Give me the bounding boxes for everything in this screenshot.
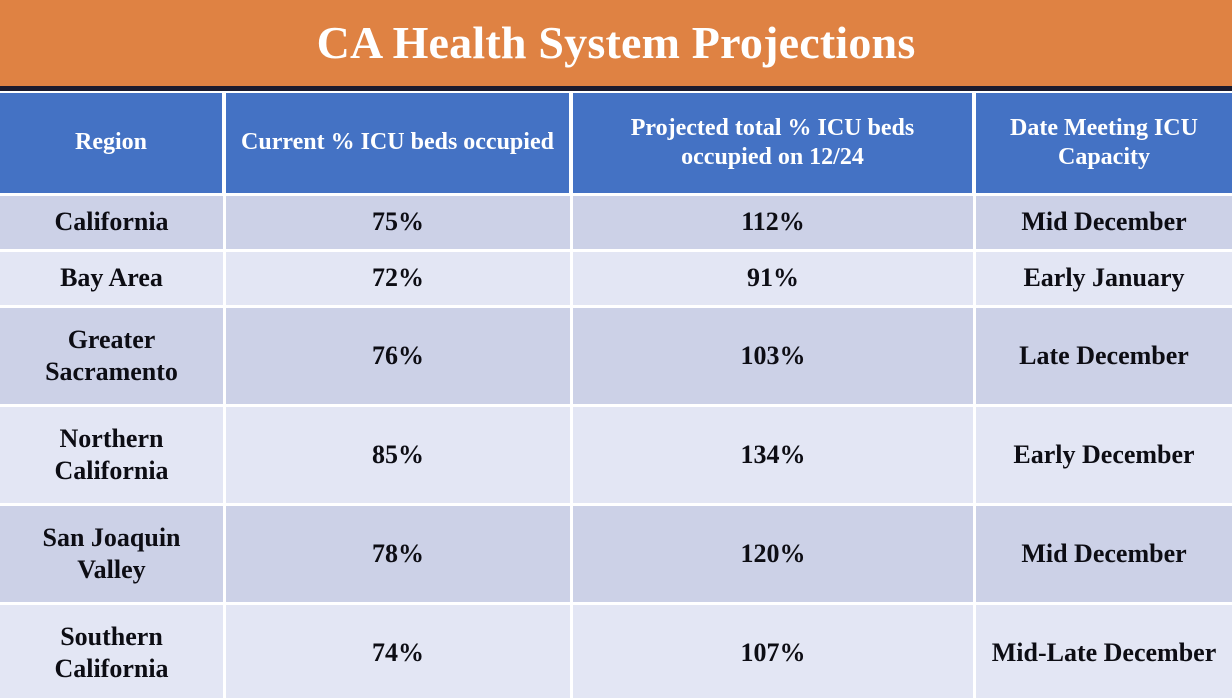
title-banner: CA Health System Projections [0,0,1232,86]
table-row: Bay Area 72% 91% Early January [0,252,1232,308]
table-row: Greater Sacramento 76% 103% Late Decembe… [0,308,1232,407]
cell-region: Greater Sacramento [0,308,226,407]
banner-divider [0,86,1232,91]
table-row: Northern California 85% 134% Early Decem… [0,407,1232,506]
cell-current-icu: 85% [226,407,573,506]
column-header-projected-icu: Projected total % ICU beds occupied on 1… [573,93,976,196]
table-body: California 75% 112% Mid December Bay Are… [0,196,1232,698]
table-header: Region Current % ICU beds occupied Proje… [0,93,1232,196]
cell-region: California [0,196,226,252]
cell-projected-icu: 107% [573,605,976,698]
cell-projected-icu: 91% [573,252,976,308]
cell-current-icu: 76% [226,308,573,407]
slide-root: CA Health System Projections Region Curr… [0,0,1232,698]
cell-projected-icu: 112% [573,196,976,252]
cell-date-capacity: Mid December [976,506,1232,605]
table-header-row: Region Current % ICU beds occupied Proje… [0,93,1232,196]
projections-table: Region Current % ICU beds occupied Proje… [0,93,1232,698]
cell-current-icu: 72% [226,252,573,308]
cell-date-capacity: Early January [976,252,1232,308]
column-header-current-icu: Current % ICU beds occupied [226,93,573,196]
projections-table-container: Region Current % ICU beds occupied Proje… [0,93,1232,698]
cell-region: Bay Area [0,252,226,308]
cell-date-capacity: Mid December [976,196,1232,252]
cell-current-icu: 78% [226,506,573,605]
cell-projected-icu: 103% [573,308,976,407]
cell-projected-icu: 134% [573,407,976,506]
table-row: San Joaquin Valley 78% 120% Mid December [0,506,1232,605]
cell-current-icu: 75% [226,196,573,252]
cell-region: San Joaquin Valley [0,506,226,605]
cell-date-capacity: Early December [976,407,1232,506]
page-title: CA Health System Projections [317,20,916,66]
cell-projected-icu: 120% [573,506,976,605]
cell-region: Northern California [0,407,226,506]
column-header-date-capacity: Date Meeting ICU Capacity [976,93,1232,196]
column-header-region: Region [0,93,226,196]
cell-region: Southern California [0,605,226,698]
cell-date-capacity: Late December [976,308,1232,407]
cell-current-icu: 74% [226,605,573,698]
table-row: Southern California 74% 107% Mid-Late De… [0,605,1232,698]
cell-date-capacity: Mid-Late December [976,605,1232,698]
table-row: California 75% 112% Mid December [0,196,1232,252]
